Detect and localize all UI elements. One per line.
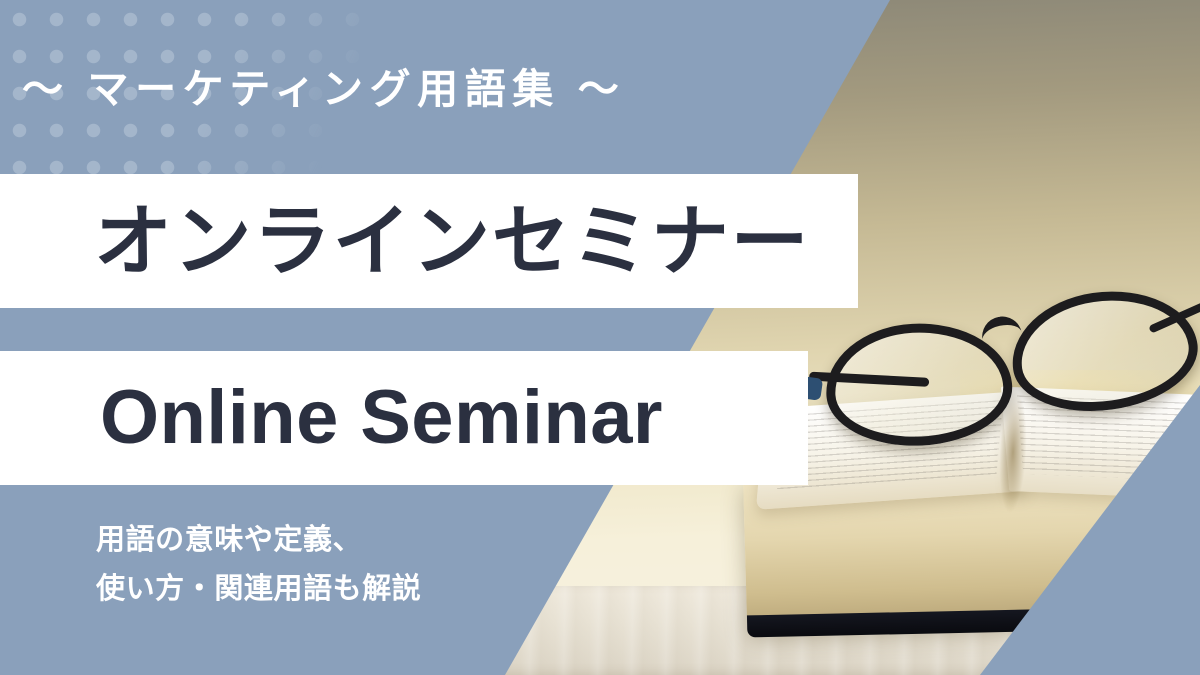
headline-en-bar: Online Seminar [0,351,808,485]
headline-en-text: Online Seminar [0,380,663,456]
kicker-text: 〜 マーケティング用語集 〜 [22,62,842,117]
headline-jp-bar: オンラインセミナー [0,174,858,308]
lede-text: 用語の意味や定義、 使い方・関連用語も解説 [96,516,421,613]
headline-jp-text: オンラインセミナー [0,202,810,280]
banner-canvas: 〜 マーケティング用語集 〜 オンラインセミナー Online Seminar … [0,0,1200,675]
eyeglasses-lens-right [1004,280,1200,423]
eyeglasses-bridge [978,313,1022,346]
